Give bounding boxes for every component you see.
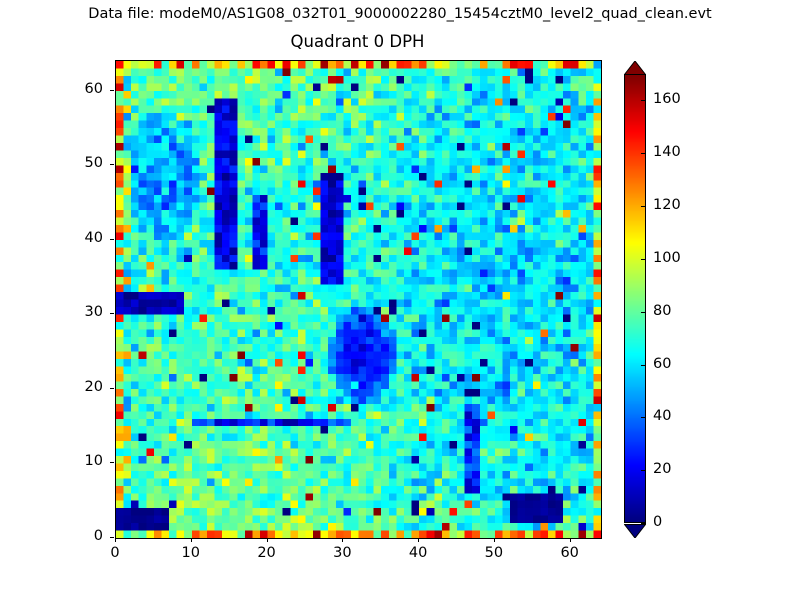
x-tick-label: 40: [398, 545, 438, 561]
colorbar-tick-mark: [641, 312, 646, 313]
x-tick-label: 10: [171, 545, 211, 561]
colorbar[interactable]: [624, 60, 646, 537]
x-tick-label: 0: [95, 545, 135, 561]
x-tick-label: 30: [322, 545, 362, 561]
colorbar-tick-label: 20: [653, 461, 671, 477]
colorbar-tick-label: 40: [653, 408, 671, 424]
y-tick-label: 0: [63, 528, 103, 544]
colorbar-tick-mark: [641, 153, 646, 154]
colorbar-gradient: [625, 75, 645, 522]
detector-heatmap-image[interactable]: [116, 61, 601, 538]
colorbar-tick-label: 120: [653, 197, 681, 213]
colorbar-tick-mark: [641, 259, 646, 260]
page-title: Quadrant 0 DPH: [115, 32, 600, 51]
x-tick-mark: [342, 538, 343, 542]
y-tick-mark: [110, 90, 114, 91]
x-tick-label: 20: [247, 545, 287, 561]
x-tick-label: 50: [474, 545, 514, 561]
colorbar-tick-label: 60: [653, 356, 671, 372]
y-tick-mark: [110, 388, 114, 389]
y-tick-label: 20: [63, 379, 103, 395]
colorbar-tick-mark: [641, 470, 646, 471]
x-tick-mark: [267, 538, 268, 542]
x-tick-mark: [191, 538, 192, 542]
colorbar-tick-mark: [641, 100, 646, 101]
y-tick-mark: [110, 239, 114, 240]
colorbar-tick-mark: [641, 365, 646, 366]
y-tick-label: 30: [63, 304, 103, 320]
y-tick-mark: [110, 164, 114, 165]
figure-canvas: Data file: modeM0/AS1G08_032T01_90000022…: [0, 0, 800, 600]
x-tick-mark: [418, 538, 419, 542]
x-tick-mark: [494, 538, 495, 542]
x-tick-mark: [115, 538, 116, 542]
y-tick-label: 60: [63, 81, 103, 97]
y-tick-mark: [110, 537, 114, 538]
colorbar-tick-label: 0: [653, 514, 662, 530]
colorbar-under-arrow: [624, 523, 646, 537]
heatmap-axes[interactable]: [115, 60, 602, 539]
colorbar-tick-mark: [641, 206, 646, 207]
data-file-label: Data file: modeM0/AS1G08_032T01_90000022…: [0, 6, 800, 22]
colorbar-over-arrow: [624, 60, 646, 74]
x-tick-mark: [570, 538, 571, 542]
colorbar-tick-mark: [641, 417, 646, 418]
y-tick-label: 10: [63, 453, 103, 469]
colorbar-tick-mark: [641, 523, 646, 524]
colorbar-tick-label: 100: [653, 250, 681, 266]
colorbar-tick-label: 140: [653, 144, 681, 160]
y-tick-mark: [110, 313, 114, 314]
y-tick-mark: [110, 462, 114, 463]
colorbar-tick-label: 80: [653, 303, 671, 319]
colorbar-tick-label: 160: [653, 91, 681, 107]
y-tick-label: 40: [63, 230, 103, 246]
y-tick-label: 50: [63, 155, 103, 171]
x-tick-label: 60: [550, 545, 590, 561]
colorbar-scale[interactable]: [624, 74, 646, 523]
